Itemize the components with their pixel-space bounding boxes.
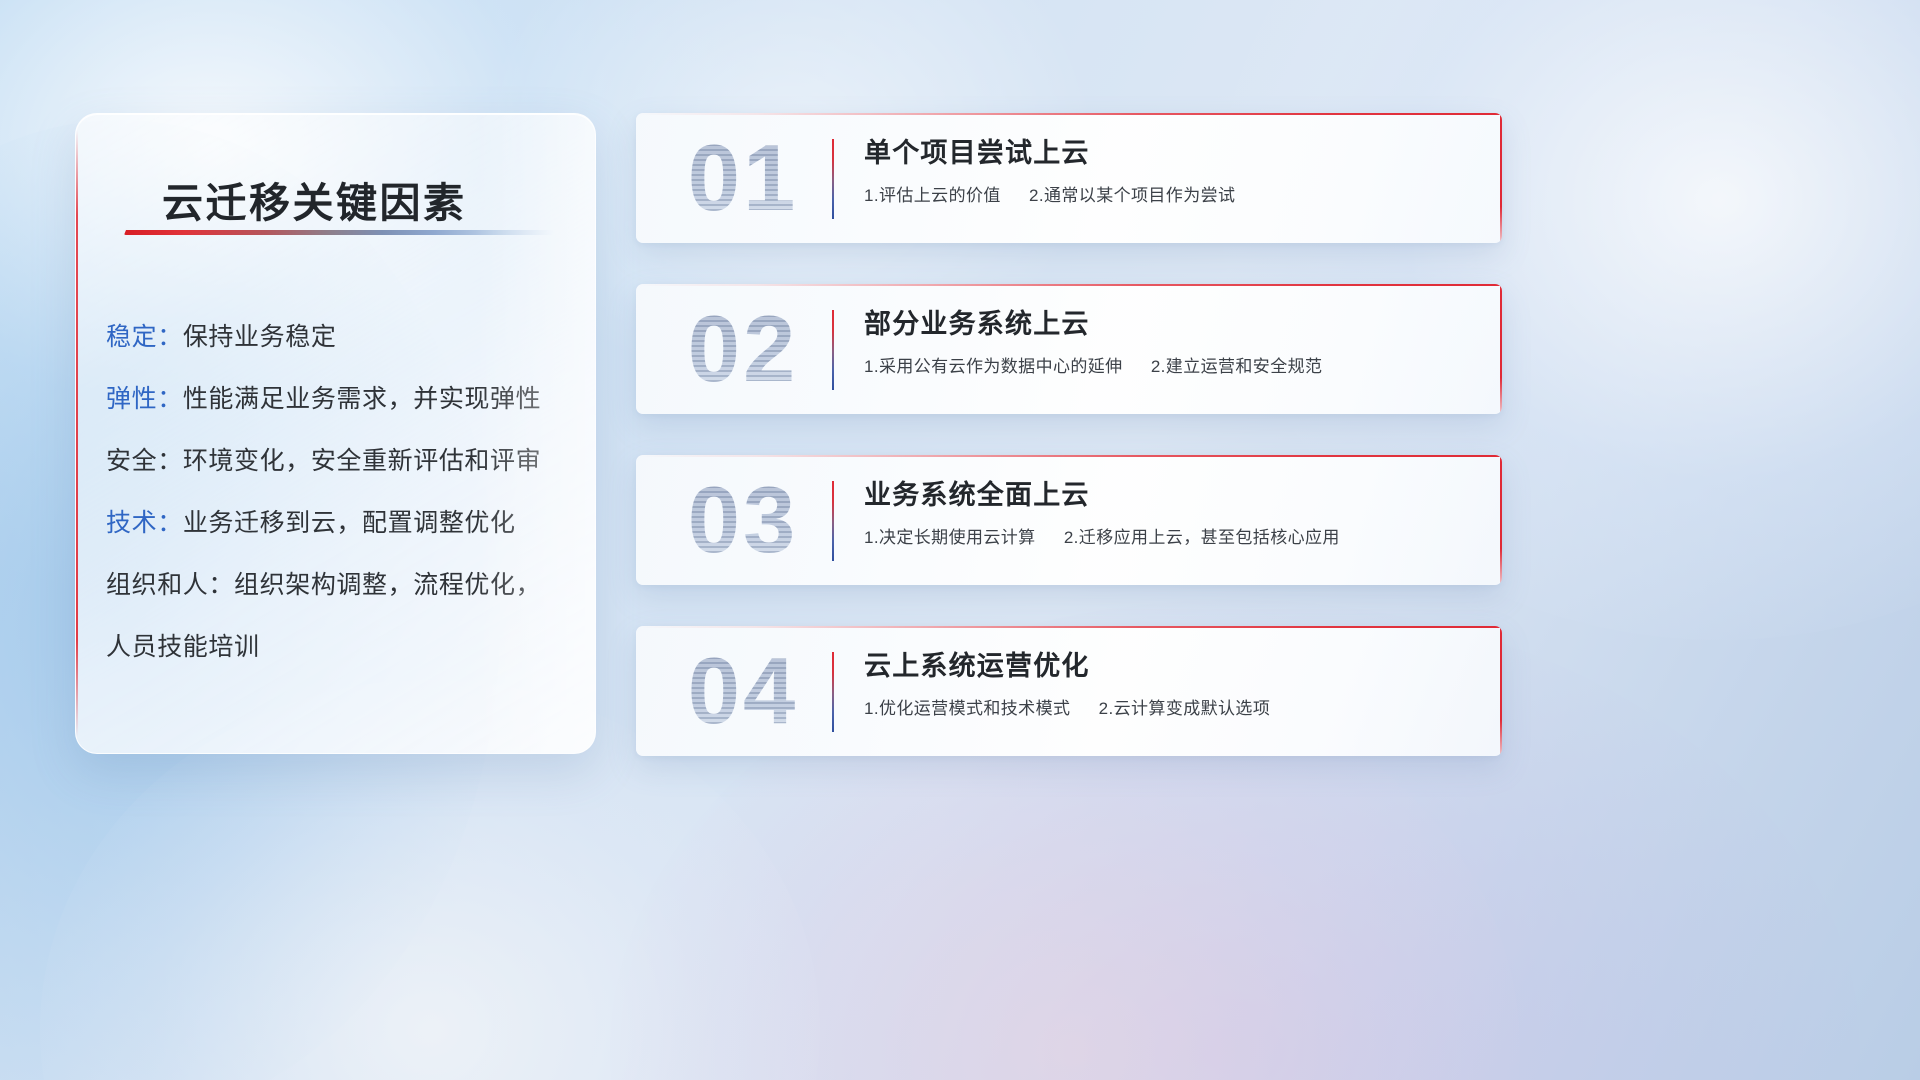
stage-title: 业务系统全面上云 [864, 475, 1476, 515]
list-item-value: 组织架构调整，流程优化， [234, 565, 541, 601]
list-item-value: 性能满足业务需求，并实现弹性 [183, 379, 541, 415]
list-item: 安全： 环境变化，安全重新评估和评审 [106, 428, 577, 490]
list-item-value: 保持业务稳定 [183, 317, 337, 353]
key-factors-list: 稳定： 保持业务稳定 弹性： 性能满足业务需求，并实现弹性 安全： 环境变化，安… [106, 304, 577, 676]
stage-point-1: 1.优化运营模式和技术模式 [864, 699, 1070, 718]
stage-card-list: 01 单个项目尝试上云 1.评估上云的价值 2.通常以某个项目作为尝试 02 部… [636, 113, 1502, 797]
list-item-value: 环境变化，安全重新评估和评审 [183, 441, 541, 477]
stage-body: 业务系统全面上云 1.决定长期使用云计算 2.迁移应用上云，甚至包括核心应用 [864, 475, 1476, 551]
stage-description: 1.评估上云的价值 2.通常以某个项目作为尝试 [864, 183, 1476, 209]
stage-point-2: 2.建立运营和安全规范 [1151, 357, 1323, 376]
stage-title: 部分业务系统上云 [864, 304, 1476, 344]
slide-stage: 云迁移关键因素 稳定： 保持业务稳定 弹性： 性能满足业务需求，并实现弹性 安全… [0, 0, 1920, 1080]
key-factors-card: 云迁移关键因素 稳定： 保持业务稳定 弹性： 性能满足业务需求，并实现弹性 安全… [75, 113, 596, 754]
stage-body: 部分业务系统上云 1.采用公有云作为数据中心的延伸 2.建立运营和安全规范 [864, 304, 1476, 380]
stage-point-1: 1.评估上云的价值 [864, 186, 1001, 205]
list-item: 弹性： 性能满足业务需求，并实现弹性 [106, 366, 577, 428]
list-item-label: 组织和人： [106, 565, 234, 601]
stage-divider [832, 310, 834, 390]
stage-point-2: 2.通常以某个项目作为尝试 [1029, 186, 1235, 205]
stage-point-2: 2.迁移应用上云，甚至包括核心应用 [1064, 528, 1340, 547]
list-item-value: 业务迁移到云，配置调整优化 [183, 503, 516, 539]
stage-title: 云上系统运营优化 [864, 646, 1476, 686]
stage-card[interactable]: 02 部分业务系统上云 1.采用公有云作为数据中心的延伸 2.建立运营和安全规范 [636, 284, 1502, 414]
stage-point-1: 1.决定长期使用云计算 [864, 528, 1036, 547]
list-item-label: 弹性： [106, 379, 183, 415]
list-item: 组织和人： 组织架构调整，流程优化， [106, 552, 577, 614]
stage-divider [832, 481, 834, 561]
stage-number: 01 [658, 119, 828, 237]
list-item-label: 技术： [106, 503, 183, 539]
stage-body: 云上系统运营优化 1.优化运营模式和技术模式 2.云计算变成默认选项 [864, 646, 1476, 722]
stage-divider [832, 652, 834, 732]
stage-description: 1.优化运营模式和技术模式 2.云计算变成默认选项 [864, 696, 1476, 722]
list-item-value: 人员技能培训 [106, 627, 260, 663]
list-item: 稳定： 保持业务稳定 [106, 304, 577, 366]
list-item: 技术： 业务迁移到云，配置调整优化 [106, 490, 577, 552]
stage-number: 03 [658, 461, 828, 579]
page-title: 云迁移关键因素 [162, 169, 467, 229]
stage-card[interactable]: 03 业务系统全面上云 1.决定长期使用云计算 2.迁移应用上云，甚至包括核心应… [636, 455, 1502, 585]
stage-description: 1.决定长期使用云计算 2.迁移应用上云，甚至包括核心应用 [864, 525, 1476, 551]
stage-point-1: 1.采用公有云作为数据中心的延伸 [864, 357, 1123, 376]
stage-description: 1.采用公有云作为数据中心的延伸 2.建立运营和安全规范 [864, 354, 1476, 380]
stage-title: 单个项目尝试上云 [864, 133, 1476, 173]
stage-number: 04 [658, 632, 828, 750]
title-underline-accent [124, 230, 554, 235]
stage-number: 02 [658, 290, 828, 408]
stage-card[interactable]: 04 云上系统运营优化 1.优化运营模式和技术模式 2.云计算变成默认选项 [636, 626, 1502, 756]
stage-body: 单个项目尝试上云 1.评估上云的价值 2.通常以某个项目作为尝试 [864, 133, 1476, 209]
list-item-label: 稳定： [106, 317, 183, 353]
stage-card[interactable]: 01 单个项目尝试上云 1.评估上云的价值 2.通常以某个项目作为尝试 [636, 113, 1502, 243]
list-item: 人员技能培训 [106, 614, 577, 676]
list-item-label: 安全： [106, 441, 183, 477]
stage-divider [832, 139, 834, 219]
stage-point-2: 2.云计算变成默认选项 [1099, 699, 1271, 718]
